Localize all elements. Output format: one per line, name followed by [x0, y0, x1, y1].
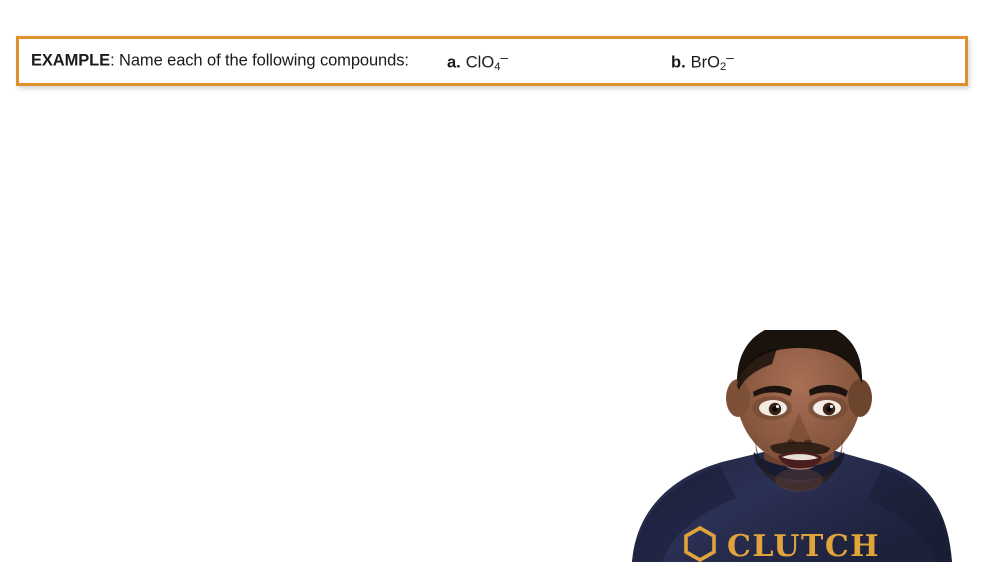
- example-callout-box: EXAMPLE: Name each of the following comp…: [16, 36, 968, 86]
- item-a-charge: –: [500, 49, 508, 64]
- ear-right: [848, 379, 872, 417]
- eye-highlight-right: [830, 405, 833, 408]
- instructor-video-overlay: CLUTCH: [596, 330, 1000, 562]
- clutch-wordmark: CLUTCH: [727, 529, 880, 562]
- item-b-element: BrO: [691, 53, 720, 71]
- chin-shadow: [775, 468, 823, 492]
- compound-item-a: a.ClO4–: [447, 49, 508, 72]
- item-a-formula: ClO4–: [466, 53, 508, 71]
- example-prompt-text: EXAMPLE: Name each of the following comp…: [31, 52, 409, 71]
- item-a-element: ClO: [466, 53, 494, 71]
- item-b-charge: –: [726, 49, 734, 64]
- eye-highlight-left: [776, 405, 779, 408]
- slide-canvas: EXAMPLE: Name each of the following comp…: [0, 0, 1000, 562]
- compound-item-b: b.BrO2–: [671, 49, 734, 72]
- item-a-label: a.: [447, 53, 461, 71]
- item-b-label: b.: [671, 53, 686, 71]
- example-label: EXAMPLE: [31, 52, 110, 70]
- item-b-formula: BrO2–: [691, 53, 734, 71]
- example-line: EXAMPLE: Name each of the following comp…: [19, 39, 965, 83]
- example-prompt: : Name each of the following compounds:: [110, 52, 409, 70]
- instructor-figure: CLUTCH: [596, 330, 1000, 562]
